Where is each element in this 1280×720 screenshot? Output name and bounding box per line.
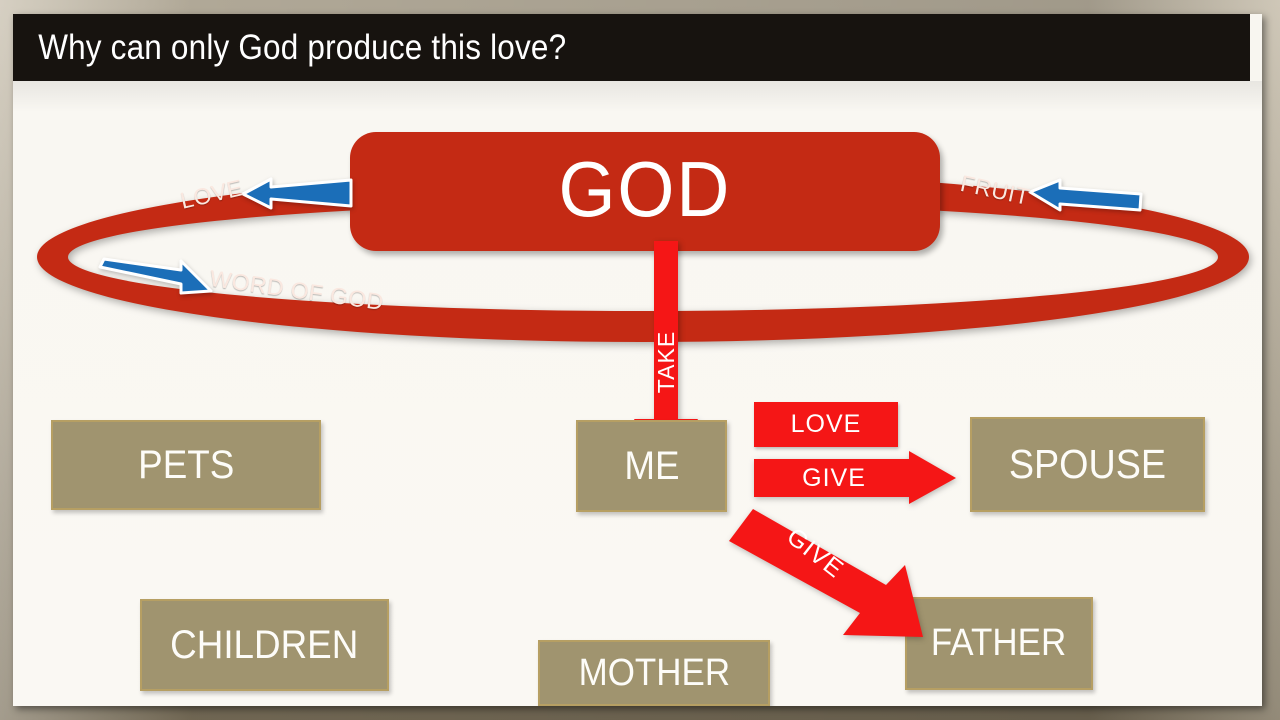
node-label-mother: MOTHER <box>578 652 729 695</box>
node-box-pets: PETS <box>51 420 321 510</box>
node-box-spouse: SPOUSE <box>970 417 1205 512</box>
slide-body: GOD LOVE WORD OF GOD FRUIT TAKE <box>13 81 1262 706</box>
take-arrow-label: TAKE <box>611 328 721 396</box>
node-box-father: FATHER <box>905 597 1093 690</box>
god-label: GOD <box>559 150 732 234</box>
arrow-left-blue-icon <box>1028 178 1144 212</box>
node-box-me: ME <box>576 420 727 512</box>
node-box-mother: MOTHER <box>538 640 770 706</box>
node-box-children: CHILDREN <box>140 599 389 691</box>
give-arrow-right-label: GIVE <box>754 451 914 505</box>
node-label-children: CHILDREN <box>170 623 358 668</box>
node-label-pets: PETS <box>138 443 234 488</box>
love-banner-to-spouse: LOVE <box>754 402 898 447</box>
slide-frame: Why can only God produce this love? GOD … <box>0 0 1280 720</box>
slide-canvas: Why can only God produce this love? GOD … <box>13 14 1262 706</box>
arrow-right-blue-icon <box>97 257 213 295</box>
node-label-father: FATHER <box>931 622 1066 665</box>
arrow-left-blue-icon <box>241 176 353 210</box>
love-banner-label: LOVE <box>791 410 862 439</box>
page-title: Why can only God produce this love? <box>13 28 566 68</box>
god-banner: GOD <box>350 132 940 251</box>
node-label-me: ME <box>624 444 679 489</box>
node-label-spouse: SPOUSE <box>1009 441 1166 488</box>
slide-title-bar: Why can only God produce this love? <box>13 14 1250 81</box>
